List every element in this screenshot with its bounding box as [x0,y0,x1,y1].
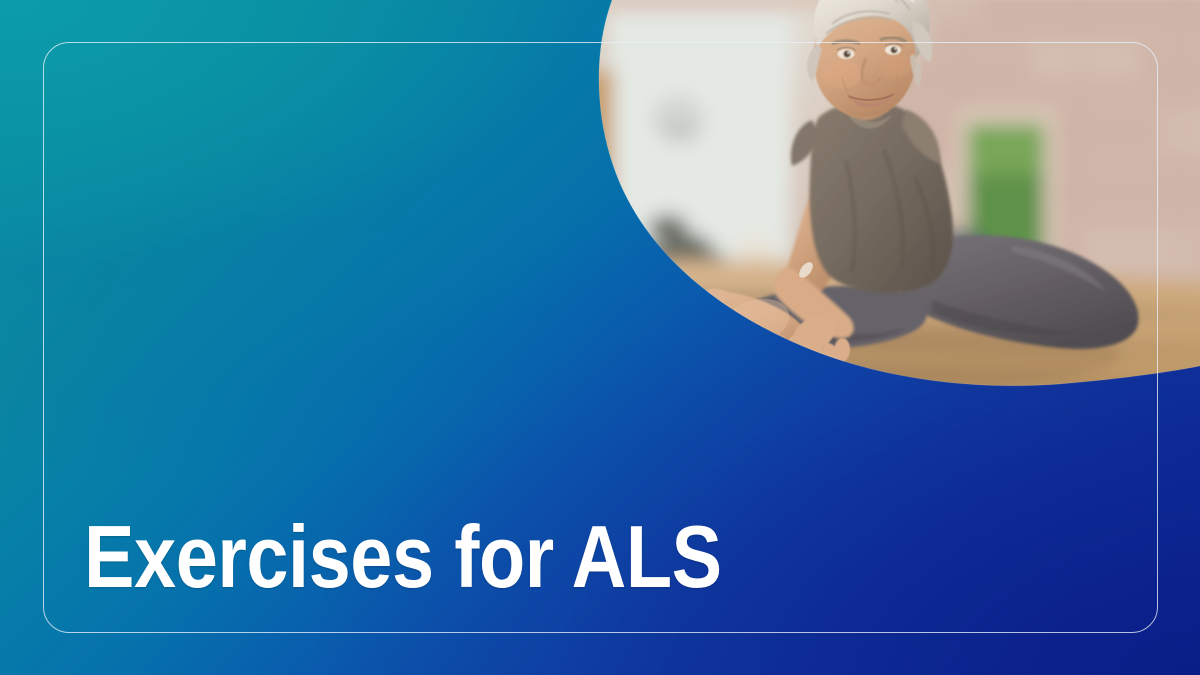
photo-warm-grade [560,0,1200,420]
hero-photo-svg [560,0,1200,420]
page-title: Exercises for ALS [84,514,722,600]
slide-canvas: Exercises for ALS [0,0,1200,675]
hero-photo [560,0,1200,420]
